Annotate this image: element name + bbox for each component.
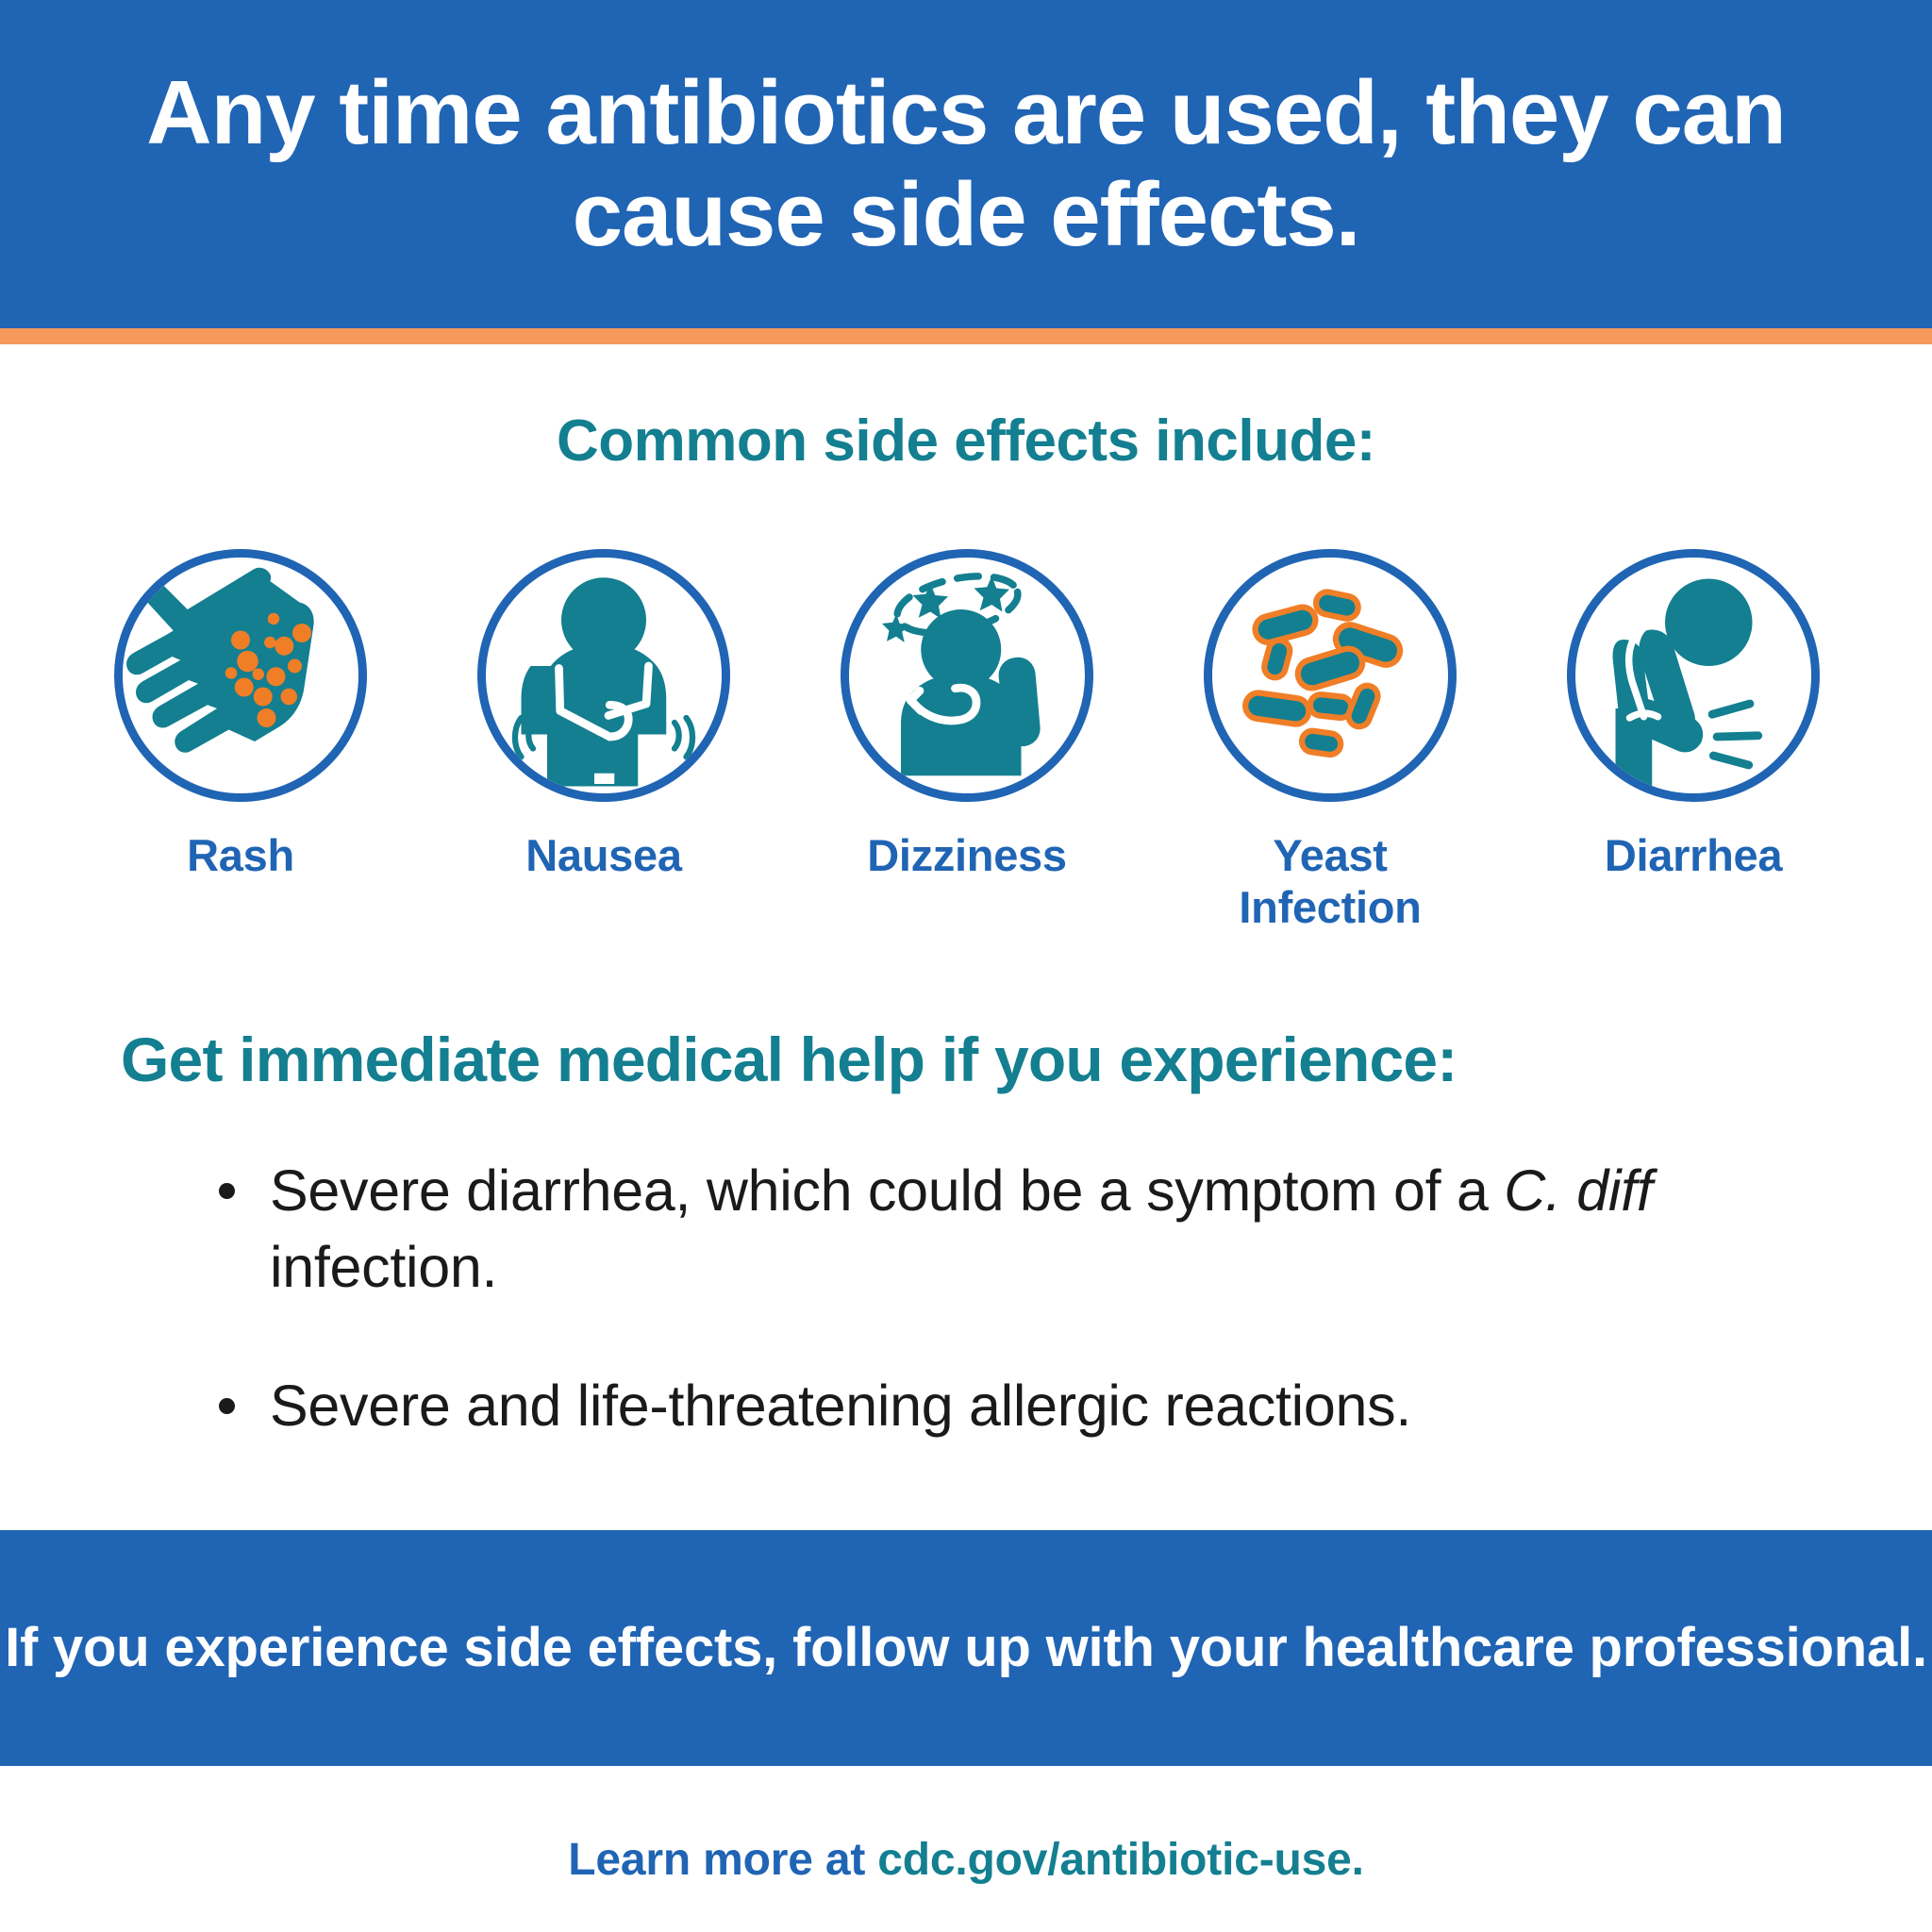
bullet-text-prefix: Severe diarrhea, which could be a sympto… [270,1158,1504,1223]
page-title: Any time antibiotics are used, they can … [0,62,1932,265]
footer-message: If you experience side effects, follow u… [5,1612,1927,1683]
bullet-dot-icon [219,1183,235,1199]
side-effect-item-yeast-infection: Yeast Infection [1189,549,1472,933]
bullet-text-italic: C. diff [1504,1158,1652,1223]
side-effect-label: Dizziness [867,830,1067,882]
yeast-cells-icon [1204,549,1457,802]
side-effect-label: Nausea [525,830,681,882]
side-effect-label: Yeast Infection [1239,830,1421,933]
header-band: Any time antibiotics are used, they can … [0,0,1932,328]
bullet-dot-icon [219,1398,235,1414]
side-effect-label: Rash [187,830,294,882]
side-effect-icon-row: Rash [99,549,1835,933]
learn-more-url[interactable]: cdc.gov/antibiotic-use. [877,1835,1363,1885]
orange-divider [0,328,1932,344]
side-effect-item-nausea: Nausea [462,549,745,882]
side-effect-item-dizziness: Dizziness [825,549,1108,882]
list-item: Severe diarrhea, which could be a sympto… [215,1153,1800,1306]
bullet-text-suffix: infection. [270,1235,497,1299]
side-effect-item-diarrhea: Diarrhea [1552,549,1835,882]
person-dizziness-icon [841,549,1093,802]
immediate-help-bullet-list: Severe diarrhea, which could be a sympto… [215,1153,1800,1444]
footer-band: If you experience side effects, follow u… [0,1530,1932,1766]
side-effect-item-rash: Rash [99,549,382,882]
learn-more-line: Learn more at cdc.gov/antibiotic-use. [0,1834,1932,1886]
list-item: Severe and life-threatening allergic rea… [215,1368,1800,1444]
hand-rash-icon [114,549,367,802]
bullet-text-prefix: Severe and life-threatening allergic rea… [270,1374,1411,1438]
common-side-effects-heading: Common side effects include: [0,408,1932,475]
side-effect-label: Diarrhea [1605,830,1782,882]
immediate-help-heading: Get immediate medical help if you experi… [121,1024,1819,1095]
person-nausea-icon [477,549,730,802]
person-diarrhea-icon [1567,549,1820,802]
learn-more-prefix: Learn more at [568,1835,877,1885]
